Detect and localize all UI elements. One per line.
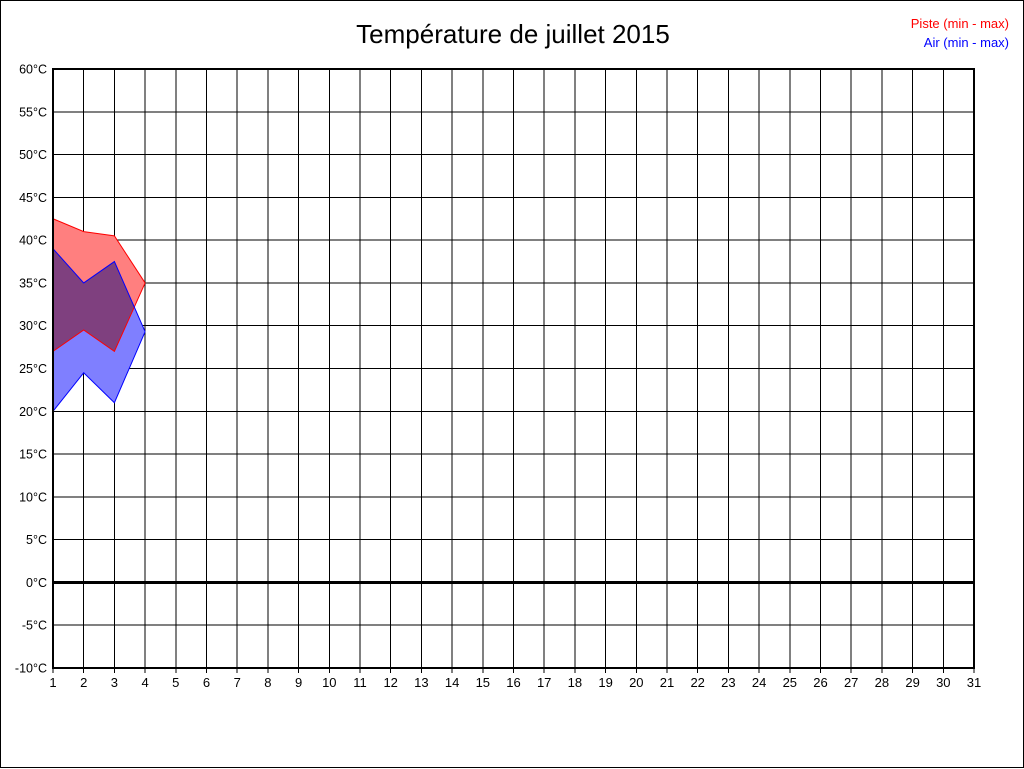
y-tick-label: 10°C [19, 490, 47, 504]
x-tick-label: 28 [875, 675, 889, 690]
x-tick-label: 7 [234, 675, 241, 690]
x-tick-label: 30 [936, 675, 950, 690]
x-tick-label: 3 [111, 675, 118, 690]
y-tick-label: 30°C [19, 319, 47, 333]
x-axis-tick-labels: 1234567891011121314151617181920212223242… [49, 668, 981, 690]
x-tick-label: 15 [476, 675, 490, 690]
y-tick-label: -5°C [22, 619, 47, 633]
x-tick-label: 17 [537, 675, 551, 690]
x-tick-label: 31 [967, 675, 981, 690]
x-tick-label: 1 [49, 675, 56, 690]
x-tick-label: 5 [172, 675, 179, 690]
grid-lines [53, 69, 974, 668]
x-tick-label: 9 [295, 675, 302, 690]
y-tick-label: 0°C [26, 576, 47, 590]
y-axis-tick-labels: 60°C55°C50°C45°C40°C35°C30°C25°C20°C15°C… [15, 63, 47, 676]
y-tick-label: 25°C [19, 362, 47, 376]
x-tick-label: 19 [598, 675, 612, 690]
x-tick-label: 10 [322, 675, 336, 690]
chart-page: Température de juillet 2015 Piste (min -… [0, 0, 1024, 768]
x-tick-label: 2 [80, 675, 87, 690]
y-tick-label: 5°C [26, 533, 47, 547]
x-tick-label: 20 [629, 675, 643, 690]
x-tick-label: 11 [353, 675, 367, 690]
x-tick-label: 24 [752, 675, 766, 690]
y-tick-label: 60°C [19, 63, 47, 77]
y-tick-label: 15°C [19, 448, 47, 462]
x-tick-label: 26 [813, 675, 827, 690]
x-tick-label: 18 [568, 675, 582, 690]
y-tick-label: 45°C [19, 191, 47, 205]
x-tick-label: 25 [783, 675, 797, 690]
x-tick-label: 21 [660, 675, 674, 690]
y-tick-label: 20°C [19, 405, 47, 419]
x-tick-label: 29 [905, 675, 919, 690]
x-tick-label: 22 [690, 675, 704, 690]
y-tick-label: 55°C [19, 105, 47, 119]
x-tick-label: 27 [844, 675, 858, 690]
x-tick-label: 14 [445, 675, 459, 690]
x-tick-label: 16 [506, 675, 520, 690]
y-tick-label: 40°C [19, 234, 47, 248]
data-bands [53, 219, 145, 412]
x-tick-label: 12 [383, 675, 397, 690]
chart-svg: 60°C55°C50°C45°C40°C35°C30°C25°C20°C15°C… [1, 1, 1024, 769]
x-tick-label: 4 [141, 675, 148, 690]
x-tick-label: 6 [203, 675, 210, 690]
plot-area: 60°C55°C50°C45°C40°C35°C30°C25°C20°C15°C… [1, 1, 1024, 769]
x-tick-label: 8 [264, 675, 271, 690]
y-tick-label: -10°C [15, 662, 47, 676]
y-tick-label: 35°C [19, 276, 47, 290]
y-tick-label: 50°C [19, 148, 47, 162]
x-tick-label: 13 [414, 675, 428, 690]
x-tick-label: 23 [721, 675, 735, 690]
